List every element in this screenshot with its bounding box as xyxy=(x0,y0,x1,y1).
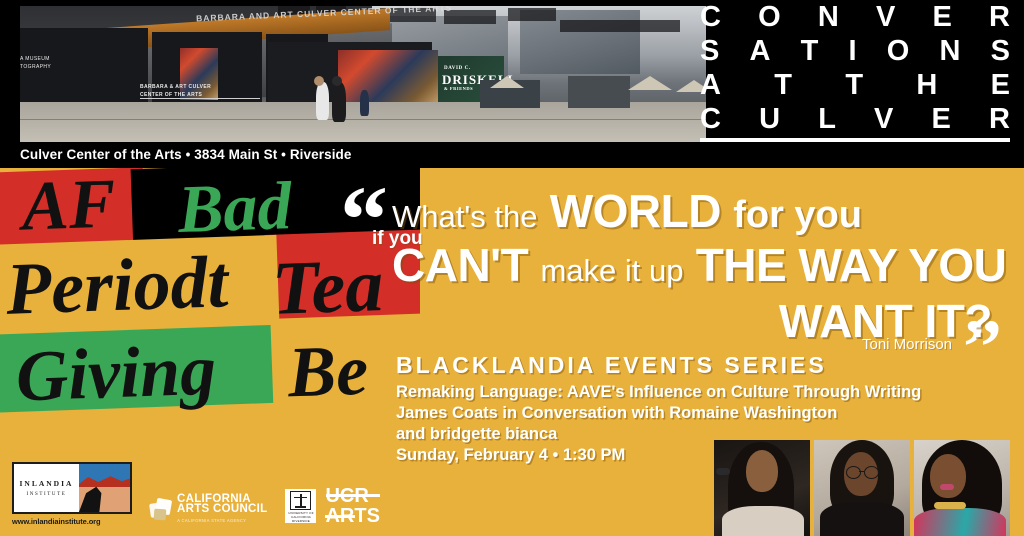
quote-line-2: CAN'T make it up THE WAY YOU xyxy=(392,240,992,296)
photo-wayfinding-sign: BARBARA & ART CULVER CENTER OF THE ARTS xyxy=(140,84,211,99)
quote-seg-if-you: if you xyxy=(372,228,423,250)
series-wordmark: C O N V E R S A T I O N S A T T H E C U … xyxy=(700,0,1010,146)
poster-canvas: DAVID C. DRISKELL & FRIENDS A MUSEUM TOG… xyxy=(0,0,1024,536)
wm-letter: C xyxy=(700,1,721,34)
speaker-glasses-icon xyxy=(846,466,861,479)
quote-attribution: Toni Morrison xyxy=(862,336,952,353)
collage-word-giving: Giving xyxy=(15,329,218,419)
photo-art-poster xyxy=(338,50,438,106)
wm-letter: T xyxy=(801,35,819,68)
inlandia-subname: INSTITUTE xyxy=(27,492,67,497)
wm-letter: C xyxy=(700,103,721,136)
venue-address: Culver Center of the Arts • 3834 Main St… xyxy=(20,147,352,162)
quote-text: What's the WORLD for you CAN'T make it u… xyxy=(392,186,992,348)
wm-letter: A xyxy=(700,69,721,102)
photo-museum-sign: A MUSEUM TOGRAPHY xyxy=(20,56,51,71)
wm-letter: N xyxy=(940,35,961,68)
quote-seg-make-it-up: make it up xyxy=(540,253,683,288)
quote-seg-for-you: for you xyxy=(733,194,862,236)
logo-ucr-arts[interactable]: UNIVERSITY OF CALIFORNIA RIVERSIDE UCR A… xyxy=(285,486,379,526)
speaker-photo-bridgette-bianca xyxy=(914,440,1010,536)
inlandia-url[interactable]: www.inlandiainstitute.org xyxy=(12,517,132,526)
photo-balcony xyxy=(560,20,680,32)
cac-square xyxy=(154,509,167,521)
quote-seg-world: WORLD xyxy=(550,185,721,237)
wordmark-row-4: C U L V E R xyxy=(700,102,1010,136)
cac-line-3: A CALIFORNIA STATE AGENCY xyxy=(177,516,267,526)
speaker-microphone-icon xyxy=(716,468,730,475)
wm-letter: S xyxy=(700,35,719,68)
quote-line-1: What's the WORLD for you xyxy=(392,186,992,242)
wm-letter: T xyxy=(845,69,863,102)
photo-pedestrian xyxy=(332,82,346,122)
wm-letter: E xyxy=(932,103,951,136)
photo-balcony xyxy=(508,8,556,21)
wm-letter: O xyxy=(758,1,781,34)
wm-letter: R xyxy=(989,1,1010,34)
ucr-wordmark: UCR ARTS xyxy=(325,486,379,526)
wm-letter: E xyxy=(933,1,952,34)
cac-mark-icon xyxy=(150,499,172,521)
wordmark-row-3: A T T H E xyxy=(700,68,1010,102)
collage-word-af: AF xyxy=(21,168,117,248)
speaker-body xyxy=(820,502,904,536)
event-series-title: BLACKLANDIA EVENTS SERIES xyxy=(396,352,921,379)
logo-inlandia-institute[interactable]: INLANDIA INSTITUTE www.inlandiainstitute… xyxy=(12,462,132,526)
ucr-seal-arm xyxy=(294,497,307,498)
speaker-body xyxy=(722,506,804,536)
speaker-glasses-bridge xyxy=(859,471,864,472)
wm-letter: T xyxy=(774,69,792,102)
wm-letter: V xyxy=(876,1,895,34)
event-datetime: Sunday, February 4 • 1:30 PM xyxy=(396,445,921,466)
event-speakers-line-cont: and bridgette bianca xyxy=(396,424,921,445)
collage-word-bad: Bad xyxy=(177,168,293,249)
quote-seg-the-way-you: THE WAY YOU xyxy=(696,239,1007,291)
wm-letter: N xyxy=(818,1,839,34)
photo-pedestrian xyxy=(316,82,329,120)
wordmark-row-2: S A T I O N S xyxy=(700,34,1010,68)
inlandia-wordmark: INLANDIA INSTITUTE xyxy=(14,464,79,512)
ucr-seal-box xyxy=(290,491,311,510)
ucr-rule-top xyxy=(326,494,380,497)
speaker-face xyxy=(930,454,966,498)
wm-letter: H xyxy=(916,69,937,102)
speaker-necklace xyxy=(934,502,966,509)
photo-poster-eyebrow: DAVID C. xyxy=(444,66,471,71)
wm-letter: I xyxy=(849,35,857,68)
photo-pedestrian-head xyxy=(332,76,342,86)
cac-line-2: ARTS COUNCIL xyxy=(177,504,267,514)
ucr-seal-caption: UNIVERSITY OF CALIFORNIA RIVERSIDE xyxy=(285,511,316,523)
wm-letter: O xyxy=(887,35,910,68)
sponsor-logos: INLANDIA INSTITUTE www.inlandiainstitute… xyxy=(12,462,380,526)
photo-sidewalk-line xyxy=(20,119,706,120)
event-details: BLACKLANDIA EVENTS SERIES Remaking Langu… xyxy=(396,352,921,466)
wm-letter: R xyxy=(989,103,1010,136)
speaker-glasses-icon xyxy=(864,466,879,479)
wm-letter: U xyxy=(759,103,780,136)
event-subtitle: Remaking Language: AAVE's Influence on C… xyxy=(396,382,921,403)
photo-window xyxy=(568,76,630,108)
wm-letter: A xyxy=(750,35,771,68)
wm-letter: L xyxy=(818,103,836,136)
wm-letter: S xyxy=(991,35,1010,68)
wordmark-underline xyxy=(700,138,1010,142)
photo-pedestrian xyxy=(360,90,369,116)
speaker-body xyxy=(914,508,1006,536)
inlandia-logo-box: INLANDIA INSTITUTE xyxy=(12,462,132,514)
photo-pedestrian-head xyxy=(314,76,324,86)
photo-sign-rule xyxy=(140,98,260,99)
collage-word-be: Be xyxy=(287,329,370,415)
ucr-seal-base xyxy=(295,506,306,508)
speaker-lips xyxy=(940,484,954,490)
photo-poster-subtitle: & FRIENDS xyxy=(444,86,473,91)
cac-wordmark: CALIFORNIA ARTS COUNCIL A CALIFORNIA STA… xyxy=(177,494,267,526)
ucr-seal-icon: UNIVERSITY OF CALIFORNIA RIVERSIDE xyxy=(285,489,316,523)
event-speakers-line: James Coats in Conversation with Romaine… xyxy=(396,403,921,424)
inlandia-landscape-icon xyxy=(79,464,130,512)
wm-letter: V xyxy=(874,103,893,136)
venue-photo: DAVID C. DRISKELL & FRIENDS A MUSEUM TOG… xyxy=(20,6,706,142)
wordmark-row-1: C O N V E R xyxy=(700,0,1010,34)
collage-word-periodt: Periodt xyxy=(5,240,230,333)
wm-letter: E xyxy=(991,69,1010,102)
logo-california-arts-council[interactable]: CALIFORNIA ARTS COUNCIL A CALIFORNIA STA… xyxy=(150,494,267,526)
inlandia-name: INLANDIA xyxy=(20,479,74,488)
ucr-rule-bottom xyxy=(325,515,355,518)
